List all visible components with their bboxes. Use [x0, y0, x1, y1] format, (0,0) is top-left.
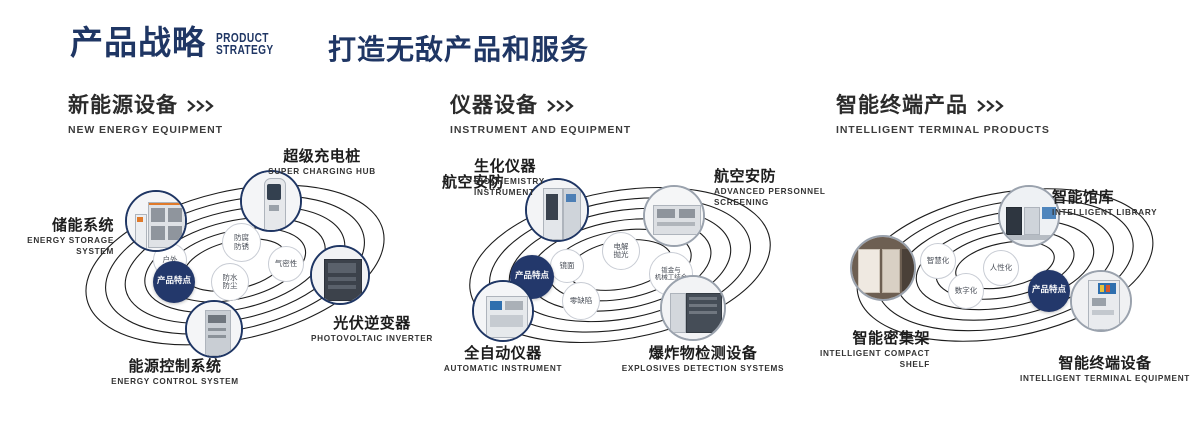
center-bubble-product-features: 产品特点 — [153, 261, 195, 303]
product-node-terminal-equipment[interactable] — [1070, 270, 1132, 332]
cluster-instrument-and-equipment: 镜面 电解 抛光 钣金与 机械工结合 零缺陷 产品特点 — [430, 160, 810, 370]
section-title-cn: 智能终端产品 — [836, 95, 968, 116]
section-title-cn: 新能源设备 — [68, 95, 178, 116]
energy-storage-cabinet-photo — [127, 192, 185, 250]
automatic-instrument-photo — [474, 282, 532, 340]
product-label-terminal-equipment: 智能终端设备 INTELLIGENT TERMINAL EQUIPMENT — [1010, 355, 1200, 385]
product-label-energy-control: 能源控制系统 ENERGY CONTROL SYSTEM — [85, 358, 265, 388]
feature-bubble: 气密性 — [268, 246, 304, 282]
triple-chevron-right-icon — [977, 100, 1007, 112]
triple-chevron-right-icon — [547, 100, 577, 112]
product-node-charging-hub[interactable] — [240, 170, 302, 232]
compact-shelf-photo — [852, 237, 914, 299]
section-head-intelligent-terminal: 智能终端产品 INTELLIGENT TERMINAL PRODUCTS — [836, 95, 1050, 136]
section-title-cn: 仪器设备 — [450, 95, 538, 116]
product-label-intelligent-library: 智能馆库 INTELLIGENT LIBRARY — [1052, 189, 1200, 219]
product-node-energy-storage[interactable] — [125, 190, 187, 252]
product-label-photovoltaic-inverter: 光伏逆变器 PHOTOVOLTAIC INVERTER — [292, 315, 452, 345]
triple-chevron-right-icon — [187, 100, 217, 112]
page-title-en: PRODUCT STRATEGY — [216, 32, 274, 59]
terminal-kiosk-photo — [1072, 272, 1130, 330]
center-bubble-product-features: 产品特点 — [1028, 270, 1070, 312]
product-label-biochemistry-instrument: 生化仪器 BIOCHEMISTRY INSTRUMENT — [474, 158, 594, 198]
product-node-explosives-detection[interactable] — [660, 275, 726, 341]
product-node-automatic-instrument[interactable] — [472, 280, 534, 342]
screening-machine-photo — [645, 187, 703, 245]
product-label-energy-storage: 储能系统 ENERGY STORAGE SYSTEM — [4, 217, 114, 257]
feature-bubble: 防水 防尘 — [211, 263, 249, 301]
product-node-energy-control[interactable] — [185, 300, 243, 358]
feature-bubble: 智慧化 — [920, 243, 956, 279]
page-title-block: 产品战略 PRODUCT STRATEGY — [70, 26, 290, 59]
section-title-en: INSTRUMENT AND EQUIPMENT — [450, 124, 631, 136]
product-label-automatic-instrument: 全自动仪器 AUTOMATIC INSTRUMENT — [433, 345, 573, 375]
control-cabinet-photo — [187, 302, 241, 356]
feature-bubble: 人性化 — [983, 250, 1019, 286]
page-slogan: 打造无敌产品和服务 — [328, 36, 589, 64]
feature-bubble: 电解 抛光 — [602, 232, 640, 270]
section-head-new-energy: 新能源设备 NEW ENERGY EQUIPMENT — [68, 95, 223, 136]
product-label-compact-shelf: 智能密集架 INTELLIGENT COMPACT SHELF — [760, 330, 930, 370]
product-node-photovoltaic-inverter[interactable] — [310, 245, 370, 305]
feature-bubble: 镜面 — [550, 249, 584, 283]
explosives-detector-photo — [662, 277, 724, 339]
cluster-new-energy-equipment: 户外 防腐 防锈 防水 防尘 气密性 产品特点 — [50, 160, 420, 370]
feature-bubble: 数字化 — [948, 273, 984, 309]
inverter-cabinet-photo — [312, 247, 368, 303]
section-title-en: INTELLIGENT TERMINAL PRODUCTS — [836, 124, 1050, 136]
section-title-en: NEW ENERGY EQUIPMENT — [68, 124, 223, 136]
product-node-advanced-screening[interactable] — [643, 185, 705, 247]
poster-canvas: 产品战略 PRODUCT STRATEGY 打造无敌产品和服务 新能源设备 NE… — [0, 0, 1200, 422]
product-node-compact-shelf[interactable] — [850, 235, 916, 301]
product-node-intelligent-library[interactable] — [998, 185, 1060, 247]
product-label-charging-hub: 超级充电桩 SUPER CHARGING HUB — [252, 148, 392, 178]
feature-bubble: 零缺陷 — [562, 282, 600, 320]
cluster-intelligent-terminal-products: 智慧化 数字化 人性化 产品特点 — [820, 165, 1190, 365]
intelligent-library-photo — [1000, 187, 1058, 245]
charging-pile-photo — [242, 172, 300, 230]
section-head-instrument: 仪器设备 INSTRUMENT AND EQUIPMENT — [450, 95, 631, 136]
page-title-cn: 产品战略 — [70, 26, 206, 59]
